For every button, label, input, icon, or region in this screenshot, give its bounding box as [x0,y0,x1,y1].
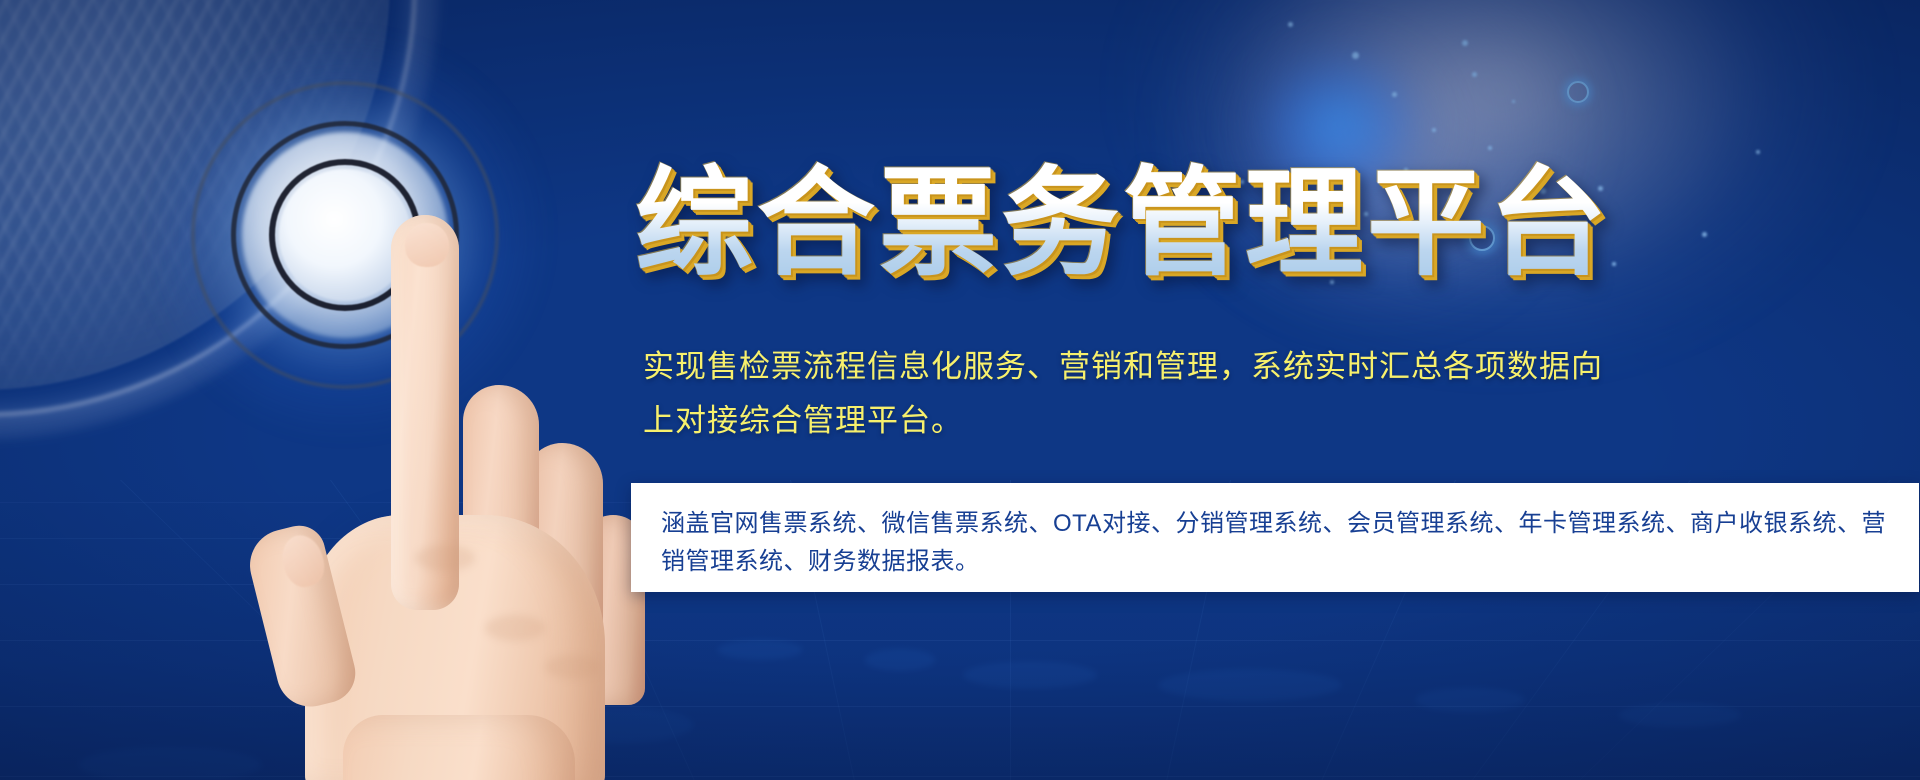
subtitle-line-2: 上对接综合管理平台。 [643,394,1683,448]
banner-content: 综合票务管理平台 实现售检票流程信息化服务、营销和管理，系统实时汇总各项数据向 … [635,0,1695,780]
subtitle-line-1: 实现售检票流程信息化服务、营销和管理，系统实时汇总各项数据向 [643,340,1683,394]
feature-highlight-box: 涵盖官网售票系统、微信售票系统、OTA对接、分销管理系统、会员管理系统、年卡管理… [631,483,1919,592]
pointing-hand-icon [245,215,675,780]
banner-subtitle: 实现售检票流程信息化服务、营销和管理，系统实时汇总各项数据向 上对接综合管理平台… [643,340,1683,448]
page-title: 综合票务管理平台 [635,160,1695,285]
feature-highlight-text: 涵盖官网售票系统、微信售票系统、OTA对接、分销管理系统、会员管理系统、年卡管理… [631,483,1919,581]
banner-hero: 综合票务管理平台 实现售检票流程信息化服务、营销和管理，系统实时汇总各项数据向 … [0,0,1920,780]
